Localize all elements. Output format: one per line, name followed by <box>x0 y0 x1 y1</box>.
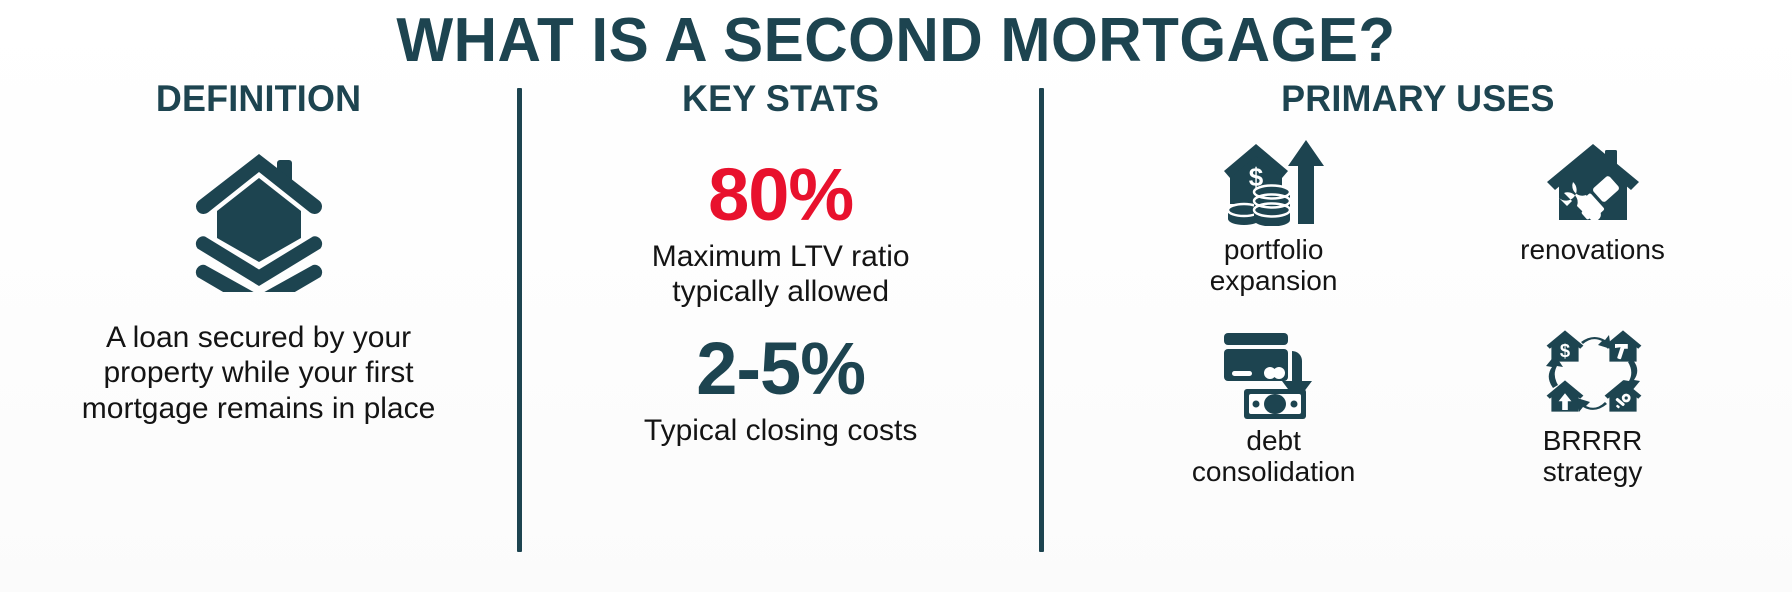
key-stats-heading: KEY STATS <box>530 78 1032 120</box>
house-cycle-icon: $ <box>1541 326 1645 425</box>
use-item-debt-consolidation: debt consolidation <box>1114 329 1433 524</box>
use-label-brrrr-strategy-line-2: strategy <box>1543 456 1643 487</box>
column-definition: DEFINITION <box>0 72 517 564</box>
definition-heading: DEFINITION <box>8 78 510 120</box>
credit-card-cash-icon <box>1222 327 1326 424</box>
use-label-debt-consolidation-line-2: consolidation <box>1192 456 1355 487</box>
definition-icon-wrap <box>0 144 517 294</box>
use-item-portfolio-expansion: $ <box>1114 134 1433 329</box>
house-tools-icon <box>1543 134 1643 231</box>
columns-container: DEFINITION <box>0 72 1792 564</box>
brrrr-strategy-icon-wrap: $ <box>1541 329 1645 421</box>
page-title: WHAT IS A SECOND MORTGAGE? <box>27 0 1765 72</box>
portfolio-expansion-icon-wrap: $ <box>1224 134 1324 230</box>
use-label-brrrr-strategy-line-1: BRRRR <box>1543 425 1643 456</box>
infographic-root: WHAT IS A SECOND MORTGAGE? DEFINITION <box>0 0 1792 592</box>
stat-block-ltv: 80% Maximum LTV ratio typically allowed <box>522 158 1039 310</box>
stat-value-ltv: 80% <box>522 158 1039 232</box>
renovations-icon-wrap <box>1543 134 1643 230</box>
stat-label-ltv-line-1: Maximum LTV ratio <box>522 240 1039 275</box>
house-money-growth-icon: $ <box>1224 134 1324 231</box>
definition-body-line-3: mortgage remains in place <box>38 391 479 426</box>
use-label-renovations: renovations <box>1520 234 1665 265</box>
stat-value-closing-costs: 2-5% <box>522 332 1039 406</box>
use-label-renovations-line-1: renovations <box>1520 234 1665 265</box>
definition-body-line-2: property while your first <box>38 355 479 390</box>
stat-block-closing-costs: 2-5% Typical closing costs <box>522 332 1039 449</box>
debt-consolidation-icon-wrap <box>1222 329 1326 421</box>
use-label-portfolio-expansion-line-1: portfolio <box>1210 234 1338 265</box>
definition-body: A loan secured by your property while yo… <box>0 320 517 426</box>
stat-label-closing-costs: Typical closing costs <box>522 414 1039 449</box>
layered-house-icon <box>184 142 334 297</box>
stat-label-closing-costs-line-1: Typical closing costs <box>522 414 1039 449</box>
column-primary-uses: PRIMARY USES $ <box>1044 72 1792 564</box>
use-label-debt-consolidation: debt consolidation <box>1192 425 1355 488</box>
svg-text:$: $ <box>1559 339 1569 360</box>
stat-label-ltv-line-2: typically allowed <box>522 275 1039 310</box>
definition-body-line-1: A loan secured by your <box>38 320 479 355</box>
column-key-stats: KEY STATS 80% Maximum LTV ratio typicall… <box>522 72 1039 564</box>
use-item-brrrr-strategy: $ <box>1433 329 1752 524</box>
primary-uses-grid: $ <box>1044 134 1792 524</box>
stat-label-ltv: Maximum LTV ratio typically allowed <box>522 240 1039 310</box>
use-label-portfolio-expansion-line-2: expansion <box>1210 265 1338 296</box>
use-label-portfolio-expansion: portfolio expansion <box>1210 234 1338 297</box>
primary-uses-heading: PRIMARY USES <box>1055 78 1780 120</box>
use-label-debt-consolidation-line-1: debt <box>1192 425 1355 456</box>
use-label-brrrr-strategy: BRRRR strategy <box>1543 425 1643 488</box>
use-item-renovations: renovations <box>1433 134 1752 329</box>
